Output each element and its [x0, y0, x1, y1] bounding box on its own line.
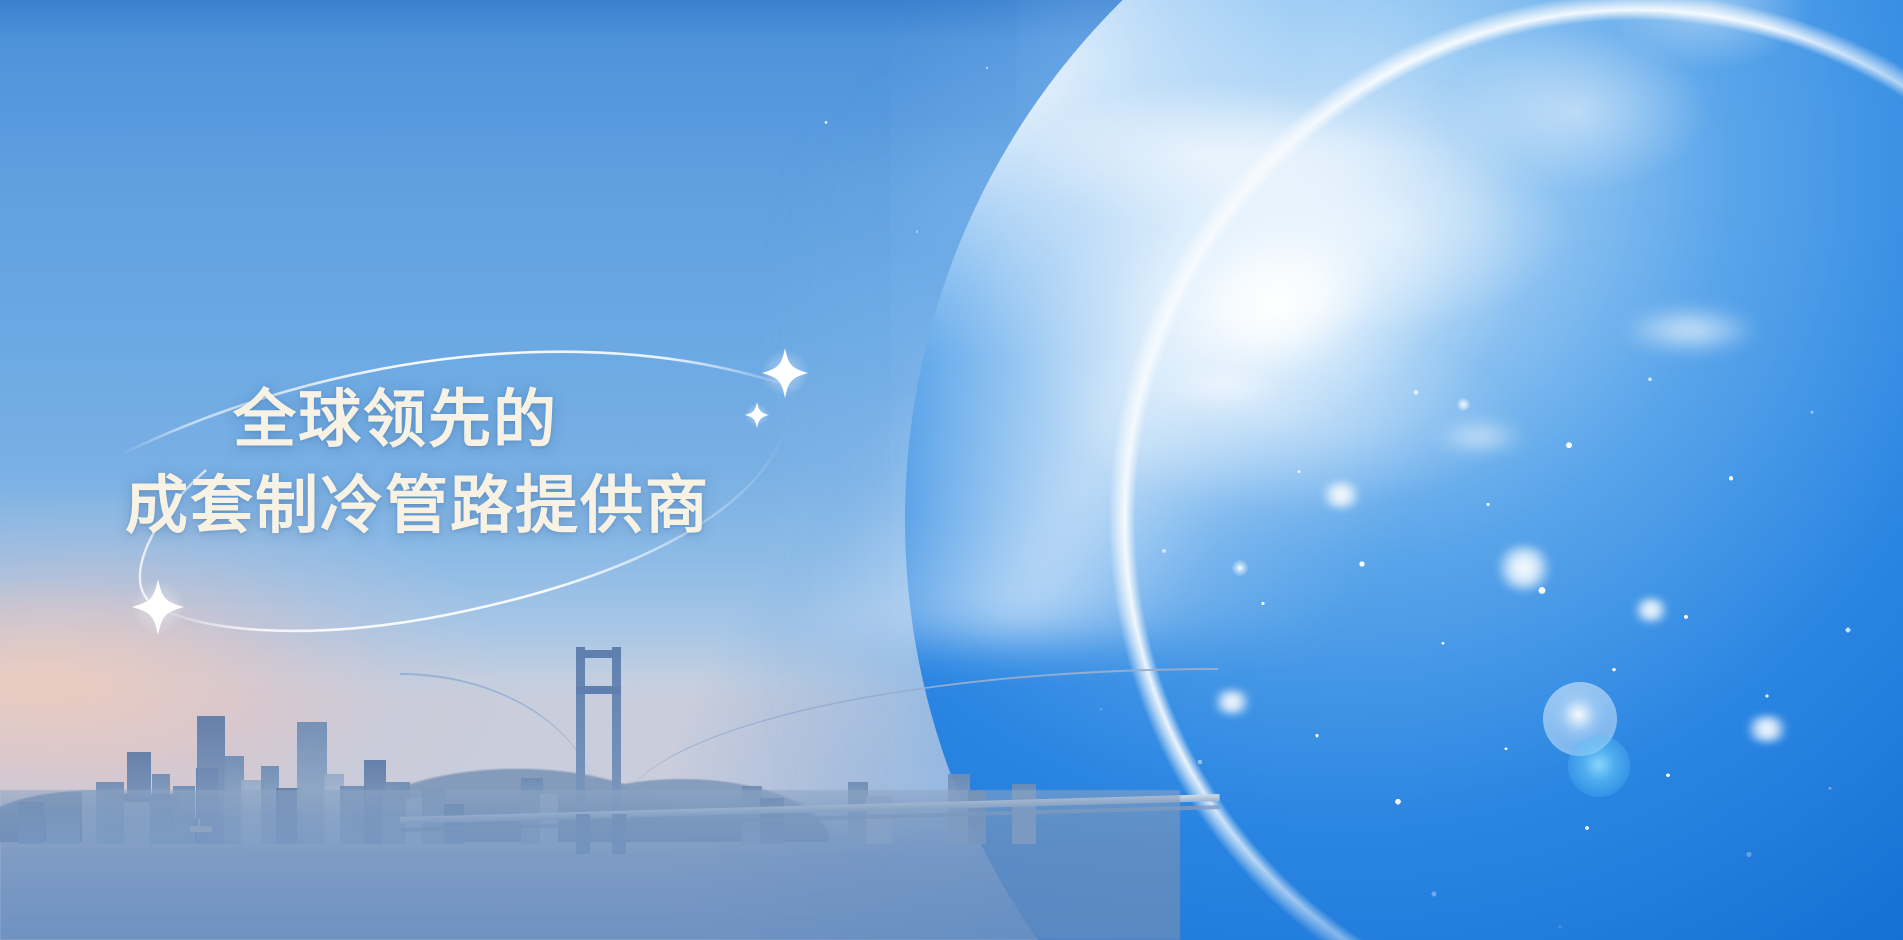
headline-line-2: 成套制冷管路提供商: [125, 469, 710, 545]
lens-flare-dot: [1232, 560, 1248, 576]
dawn-light-streak: [600, 120, 1500, 640]
bridge-crossbar: [576, 650, 621, 658]
hero-headline: 全球领先的 成套制冷管路提供商: [125, 383, 710, 544]
hero-banner: 全球领先的 成套制冷管路提供商: [0, 0, 1903, 940]
cityscape: [0, 640, 1100, 940]
lens-flare-dot: [1457, 398, 1470, 411]
metro-light-cluster: [1631, 598, 1671, 622]
water-surface: [0, 790, 1180, 940]
boat: [190, 826, 212, 832]
bridge-crossbar: [576, 686, 621, 694]
metro-light-cluster: [1742, 716, 1792, 742]
lens-flare-orb-secondary: [1568, 735, 1630, 797]
headline-line-1: 全球领先的: [125, 383, 710, 459]
